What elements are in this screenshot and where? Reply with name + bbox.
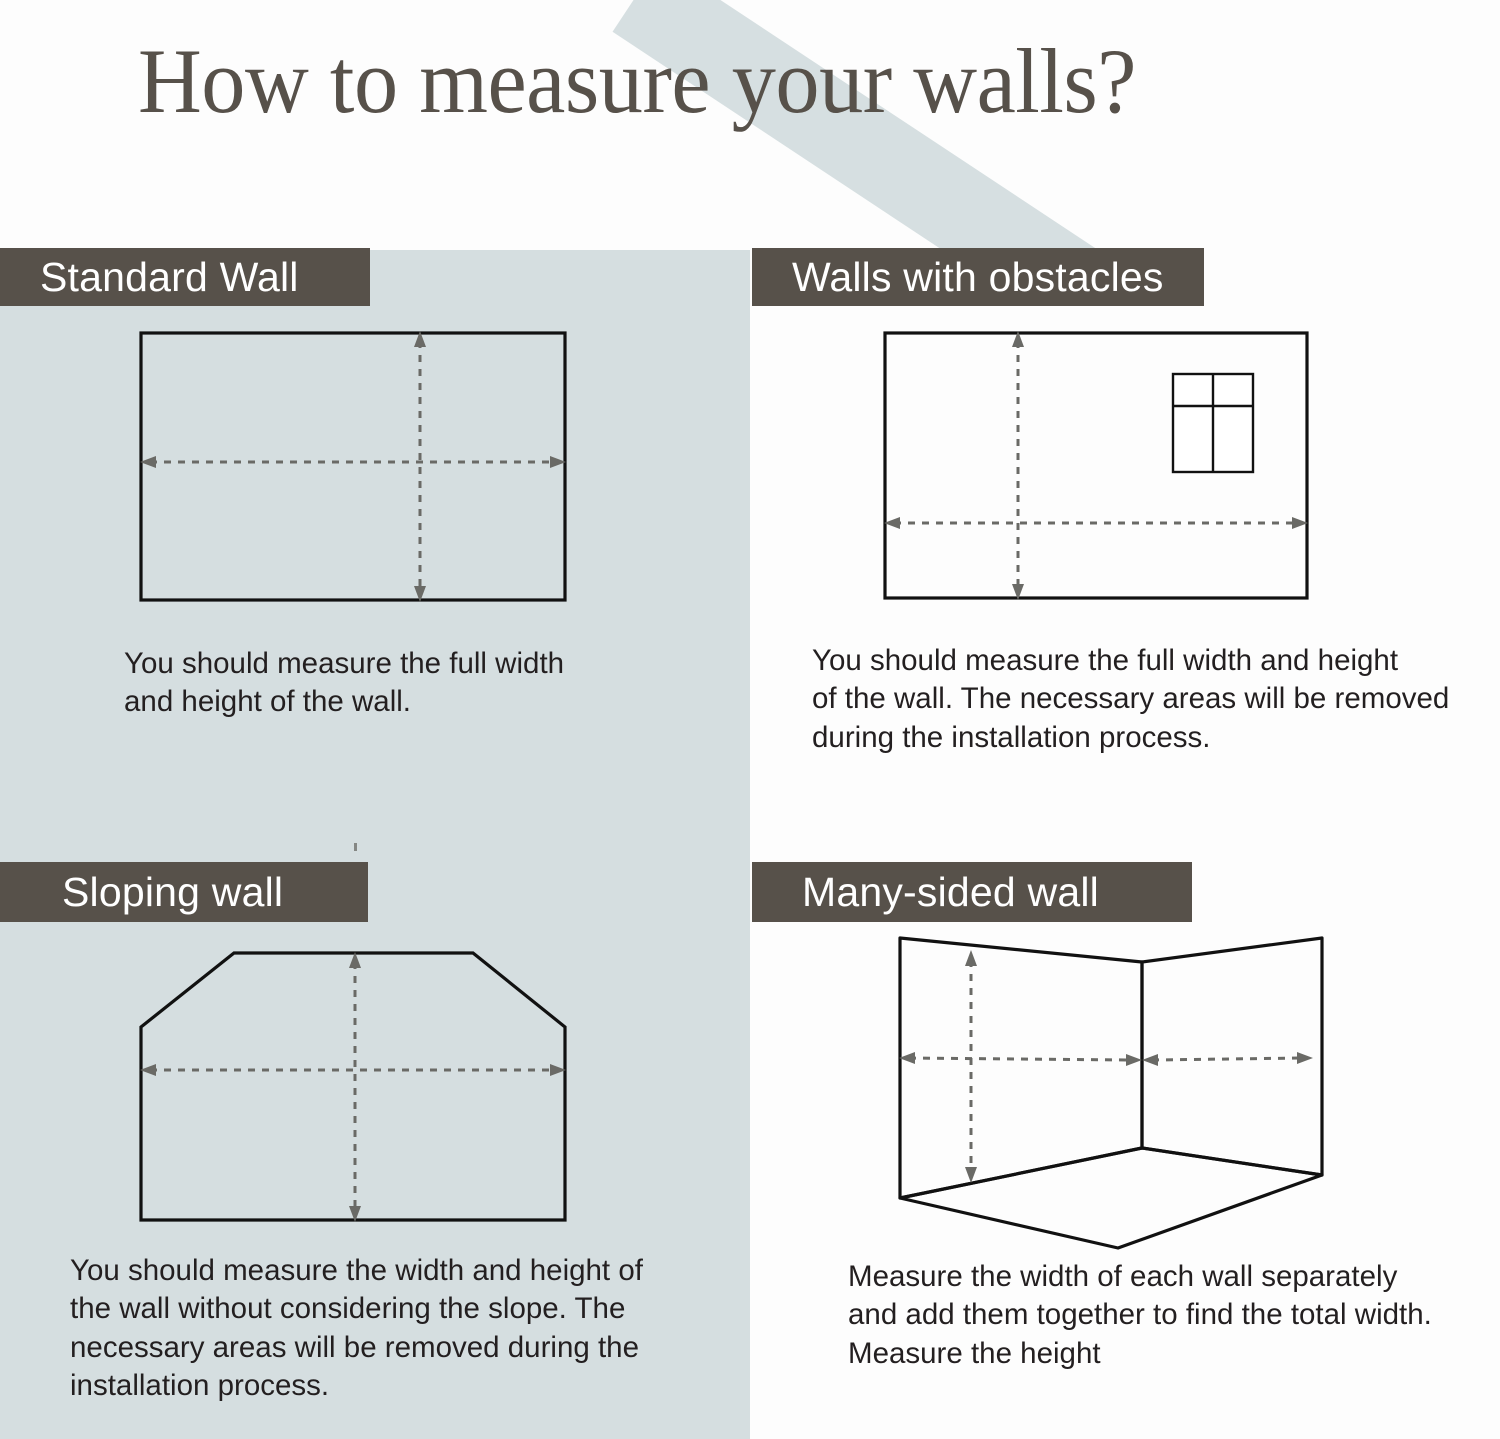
section-header-many-sided-wall: Many-sided wall	[752, 862, 1192, 922]
stray-mark	[354, 843, 357, 851]
height-arrow-vertical	[414, 331, 426, 602]
caption-standard-wall: You should measure the full width and he…	[124, 645, 664, 722]
section-header-standard-wall: Standard Wall	[0, 248, 370, 306]
height-arrow-vertical	[1012, 331, 1024, 600]
left-wall-width-arrow	[899, 1052, 1142, 1066]
height-arrow-vertical	[965, 950, 977, 1183]
infographic-page: How to measure your walls? Standard Wall…	[0, 0, 1500, 1439]
caption-many-sided-wall: Measure the width of each wall separatel…	[848, 1258, 1468, 1373]
window-obstacle-icon	[1173, 374, 1253, 472]
section-header-walls-with-obstacles: Walls with obstacles	[752, 248, 1204, 306]
diagram-walls-with-obstacles	[860, 315, 1340, 615]
section-header-sloping-wall: Sloping wall	[0, 862, 368, 922]
wall-rectangle	[141, 333, 565, 600]
width-arrow-horizontal	[140, 456, 566, 468]
diagram-many-sided-wall	[870, 925, 1360, 1265]
diagram-sloping-wall	[100, 930, 600, 1240]
width-arrow-horizontal	[884, 517, 1308, 529]
diagram-standard-wall	[100, 315, 600, 615]
page-title: How to measure your walls?	[138, 33, 1136, 130]
width-arrow-horizontal	[140, 1064, 566, 1076]
height-arrow-vertical	[349, 952, 361, 1222]
caption-walls-with-obstacles: You should measure the full width and he…	[812, 642, 1472, 757]
right-wall-width-arrow	[1142, 1052, 1313, 1066]
sloped-wall-outline	[141, 953, 565, 1220]
corner-room-outline	[900, 938, 1322, 1248]
caption-sloping-wall: You should measure the width and height …	[70, 1252, 690, 1405]
